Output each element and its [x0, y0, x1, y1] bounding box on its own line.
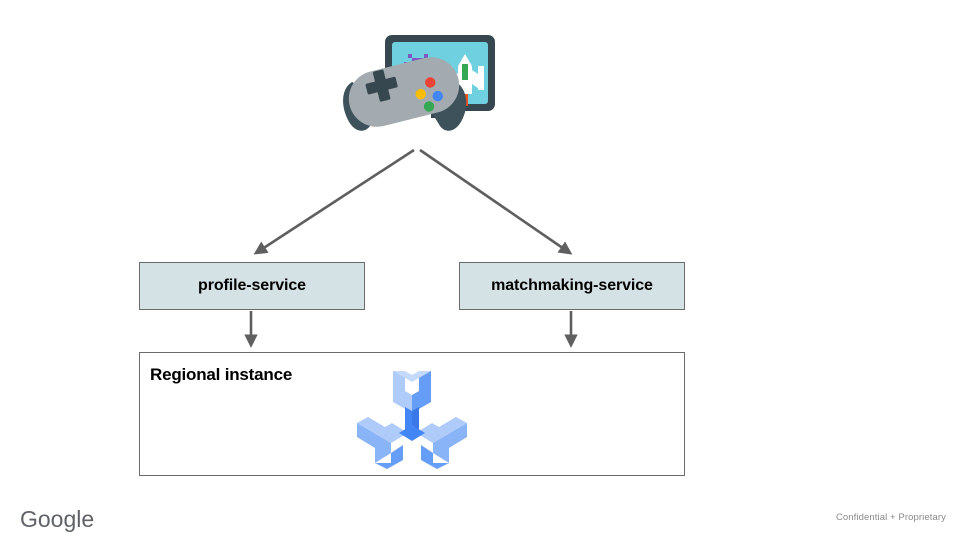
instance-group-arm-right — [416, 417, 467, 469]
gaming-console-icon — [338, 28, 504, 150]
google-logo: Google — [20, 505, 110, 535]
instance-group-arm-left — [357, 417, 408, 469]
google-wordmark: Google — [20, 506, 94, 532]
service-label: profile-service — [198, 277, 306, 295]
service-box-profile-service[interactable]: profile-service — [139, 262, 365, 310]
gamepad-icon — [343, 51, 466, 132]
service-box-matchmaking-service[interactable]: matchmaking-service — [459, 262, 685, 310]
confidential-notice: Confidential + Proprietary — [836, 512, 946, 523]
connector-client-to-profile-service — [256, 150, 414, 253]
service-label: matchmaking-service — [491, 277, 653, 295]
container-regional-instance[interactable]: Regional instance — [139, 352, 685, 476]
regional-instance-label: Regional instance — [150, 365, 292, 385]
slide-canvas: profile-service matchmaking-service Regi… — [0, 0, 960, 540]
connector-client-to-matchmaking-service — [420, 150, 570, 253]
instance-group-icon — [355, 367, 469, 471]
instance-group-arm-top — [393, 371, 431, 413]
